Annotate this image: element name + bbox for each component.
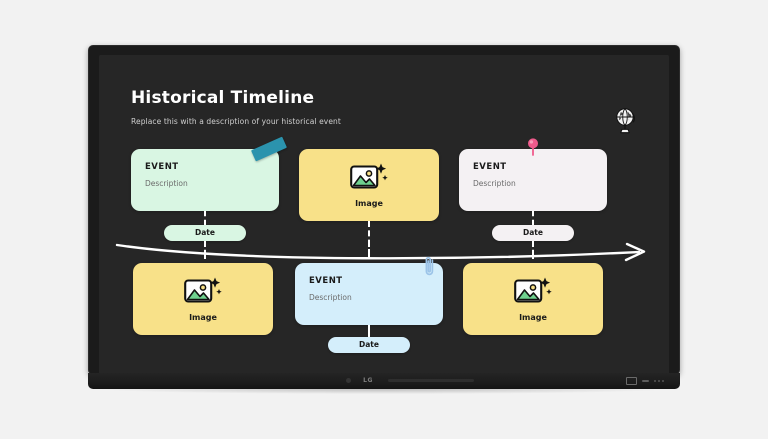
- monitor-chin: [88, 373, 680, 389]
- event-card-bottom-2[interactable]: EVENT Description: [295, 263, 443, 325]
- event-description: Description: [473, 179, 593, 188]
- image-placeholder-icon: [184, 275, 222, 307]
- date-label: Date: [359, 340, 379, 349]
- bezel-controls[interactable]: [626, 377, 664, 385]
- image-card-bottom-3[interactable]: Image: [463, 263, 603, 335]
- display-monitor: Historical Timeline Replace this with a …: [88, 45, 680, 395]
- connector-line-bottom-3: [532, 241, 534, 259]
- ir-sensor-icon: [346, 378, 351, 383]
- date-label: Date: [195, 228, 215, 237]
- page-title: Historical Timeline: [131, 88, 314, 108]
- image-label: Image: [189, 313, 217, 322]
- page-canvas: Historical Timeline Replace this with a …: [0, 0, 768, 439]
- screen-area: Historical Timeline Replace this with a …: [99, 55, 669, 383]
- connector-line-bottom-2b: [368, 325, 370, 337]
- page-subtitle: Replace this with a description of your …: [131, 117, 341, 126]
- event-card-top-3[interactable]: EVENT Description: [459, 149, 607, 211]
- paperclip-icon: [424, 255, 436, 279]
- connector-line-bottom-1: [204, 241, 206, 259]
- date-pill-top-1[interactable]: Date: [164, 225, 246, 241]
- pin-icon: [526, 138, 540, 156]
- date-label: Date: [523, 228, 543, 237]
- speaker-grille: [388, 379, 474, 382]
- display-port-icon[interactable]: [626, 377, 637, 385]
- image-label: Image: [519, 313, 547, 322]
- date-pill-top-3[interactable]: Date: [492, 225, 574, 241]
- event-title: EVENT: [145, 162, 265, 172]
- monitor-shadow: [102, 389, 666, 394]
- image-placeholder-icon: [350, 161, 388, 193]
- date-pill-bottom-2[interactable]: Date: [328, 337, 410, 353]
- image-placeholder-icon: [514, 275, 552, 307]
- event-title: EVENT: [473, 162, 593, 172]
- presentation-slide: Historical Timeline Replace this with a …: [99, 55, 669, 383]
- connector-line-top-1: [204, 211, 206, 225]
- image-card-bottom-1[interactable]: Image: [133, 263, 273, 335]
- image-label: Image: [355, 199, 383, 208]
- menu-dash-icon[interactable]: [642, 380, 649, 382]
- connector-line-top-3: [532, 211, 534, 225]
- image-card-top-2[interactable]: Image: [299, 149, 439, 221]
- connector-line-bottom-2: [368, 241, 370, 259]
- control-dots-icon[interactable]: [654, 380, 664, 382]
- globe-icon: [613, 107, 639, 135]
- event-description: Description: [309, 293, 429, 302]
- event-description: Description: [145, 179, 265, 188]
- brand-logo: LG: [357, 377, 379, 385]
- event-title: EVENT: [309, 276, 429, 286]
